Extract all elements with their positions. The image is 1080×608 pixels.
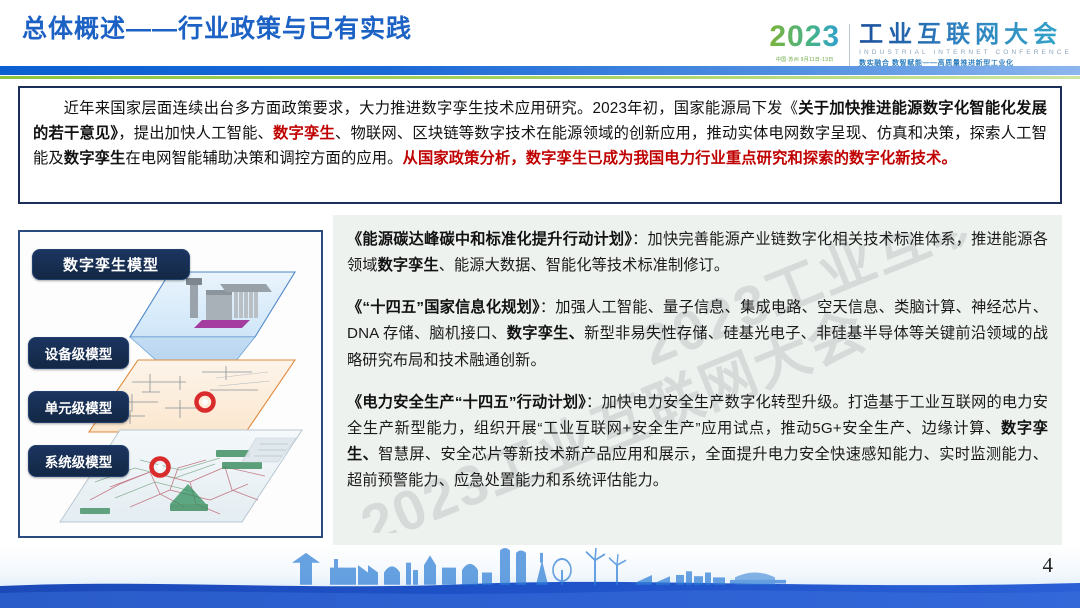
policy-panel: 2023工业互联网大会 2023工业互联网大会 《能源碳达峰碳中和标准化提升行动…: [333, 215, 1062, 545]
intro-box: 近年来国家层面连续出台多方面政策要求，大力推进数字孪生技术应用研究。2023年初…: [18, 86, 1062, 204]
digital-twin-figure-panel: 数字孪生模型 设备级模型 单元级模型 系统级模型: [18, 230, 323, 538]
conference-logo: 2023 中国·苏州 9月11日-13日 工业互联网大会 INDUSTRIAL …: [769, 22, 1072, 70]
level-label-device: 设备级模型: [28, 337, 129, 369]
intro-paragraph: 近年来国家层面连续出台多方面政策要求，大力推进数字孪生技术应用研究。2023年初…: [33, 97, 1047, 171]
level-label-unit: 单元级模型: [28, 391, 129, 423]
slide: 总体概述——行业政策与已有实践 2023 中国·苏州 9月11日-13日 工业互…: [0, 0, 1080, 608]
logo-name-block: 工业互联网大会 INDUSTRIAL INTERNET CONFERENCE 数…: [859, 22, 1072, 68]
policy-item-1: 《能源碳达峰碳中和标准化提升行动计划》：加快完善能源产业链数字化相关技术标准体系…: [347, 227, 1048, 279]
header-rule-green: [0, 76, 1080, 79]
policy-item-3: 《电力安全生产“十四五”行动计划》：加快电力安全生产数字化转型升级。打造基于工业…: [347, 390, 1048, 495]
logo-name-en: INDUSTRIAL INTERNET CONFERENCE: [859, 49, 1072, 56]
logo-divider: [849, 24, 850, 68]
figure-inner: 数字孪生模型 设备级模型 单元级模型 系统级模型: [20, 232, 321, 536]
footer: 4: [0, 545, 1080, 608]
level-label-system: 系统级模型: [28, 445, 129, 477]
content-region: 数字孪生模型 设备级模型 单元级模型 系统级模型 2023工业互联网大会 202…: [0, 215, 1080, 545]
logo-year-block: 2023 中国·苏州 9月11日-13日: [769, 22, 849, 63]
logo-name-cn: 工业互联网大会: [859, 22, 1072, 47]
policy-item-2: 《“十四五”国家信息化规划》：加强人工智能、量子信息、集成电路、空天信息、类脑计…: [347, 295, 1048, 373]
city-skyline-icon: [0, 548, 1080, 586]
logo-year-text: 2023: [769, 22, 840, 52]
header-rule-blue: [0, 66, 1080, 75]
figure-title-label: 数字孪生模型: [32, 249, 190, 280]
logo-year-subtitle: 中国·苏州 9月11日-13日: [776, 56, 834, 63]
page-title: 总体概述——行业政策与已有实践: [22, 9, 412, 45]
page-number: 4: [1043, 553, 1054, 578]
